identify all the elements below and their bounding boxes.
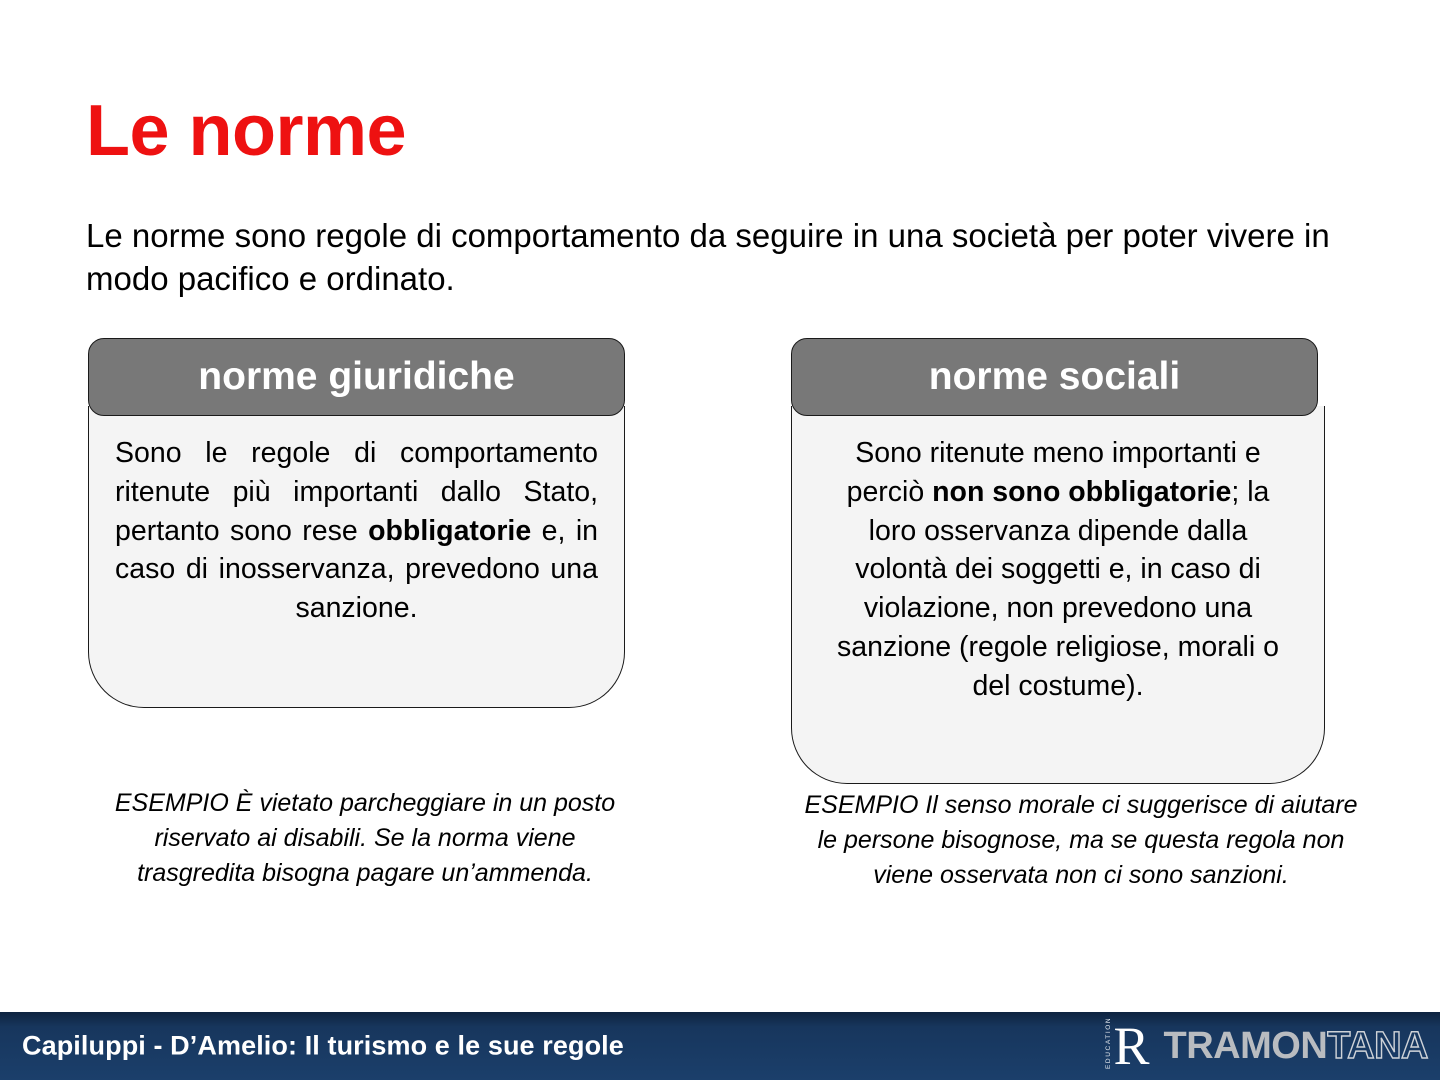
card-header-norme-giuridiche: norme giuridiche bbox=[88, 338, 625, 416]
tramontana-wordmark: TRAMONTANA bbox=[1164, 1027, 1428, 1065]
example-norme-giuridiche: ESEMPIO È vietato parcheggiare in un pos… bbox=[100, 786, 630, 891]
tramontana-monogram-icon: EDUCATION R bbox=[1105, 1018, 1147, 1074]
example-norme-sociali: ESEMPIO Il senso morale ci suggerisce di… bbox=[792, 788, 1370, 893]
logo-r-glyph: R bbox=[1113, 1022, 1147, 1071]
footer-bar: Capiluppi - D’Amelio: Il turismo e le su… bbox=[0, 1012, 1440, 1080]
logo-education-label: EDUCATION bbox=[1105, 1023, 1112, 1069]
card-body-norme-sociali: Sono ritenute meno importanti e perciò n… bbox=[791, 406, 1325, 784]
card-text-emphasis: non sono obbligatorie bbox=[932, 476, 1231, 508]
footer-credit: Capiluppi - D’Amelio: Il turismo e le su… bbox=[22, 1031, 624, 1062]
wordmark-outline-part: TANA bbox=[1327, 1027, 1428, 1065]
card-norme-giuridiche: norme giuridiche Sono le regole di compo… bbox=[88, 338, 625, 708]
card-body-text-norme-sociali: Sono ritenute meno importanti e perciò n… bbox=[806, 434, 1310, 705]
card-body-norme-giuridiche: Sono le regole di comportamento ritenute… bbox=[88, 406, 625, 708]
card-norme-sociali: norme sociali Sono ritenute meno importa… bbox=[791, 338, 1325, 784]
card-body-text-norme-giuridiche: Sono le regole di comportamento ritenute… bbox=[103, 434, 610, 628]
card-text-emphasis: obbligatorie bbox=[368, 515, 531, 547]
intro-paragraph: Le norme sono regole di comportamento da… bbox=[86, 215, 1351, 301]
card-text-segment: ; la loro osservanza dipende dalla volon… bbox=[837, 476, 1279, 702]
card-header-norme-sociali: norme sociali bbox=[791, 338, 1318, 416]
wordmark-solid-part: TRAMON bbox=[1164, 1027, 1328, 1065]
publisher-logo: EDUCATION R TRAMONTANA bbox=[1105, 1017, 1428, 1075]
page-title: Le norme bbox=[86, 95, 406, 167]
